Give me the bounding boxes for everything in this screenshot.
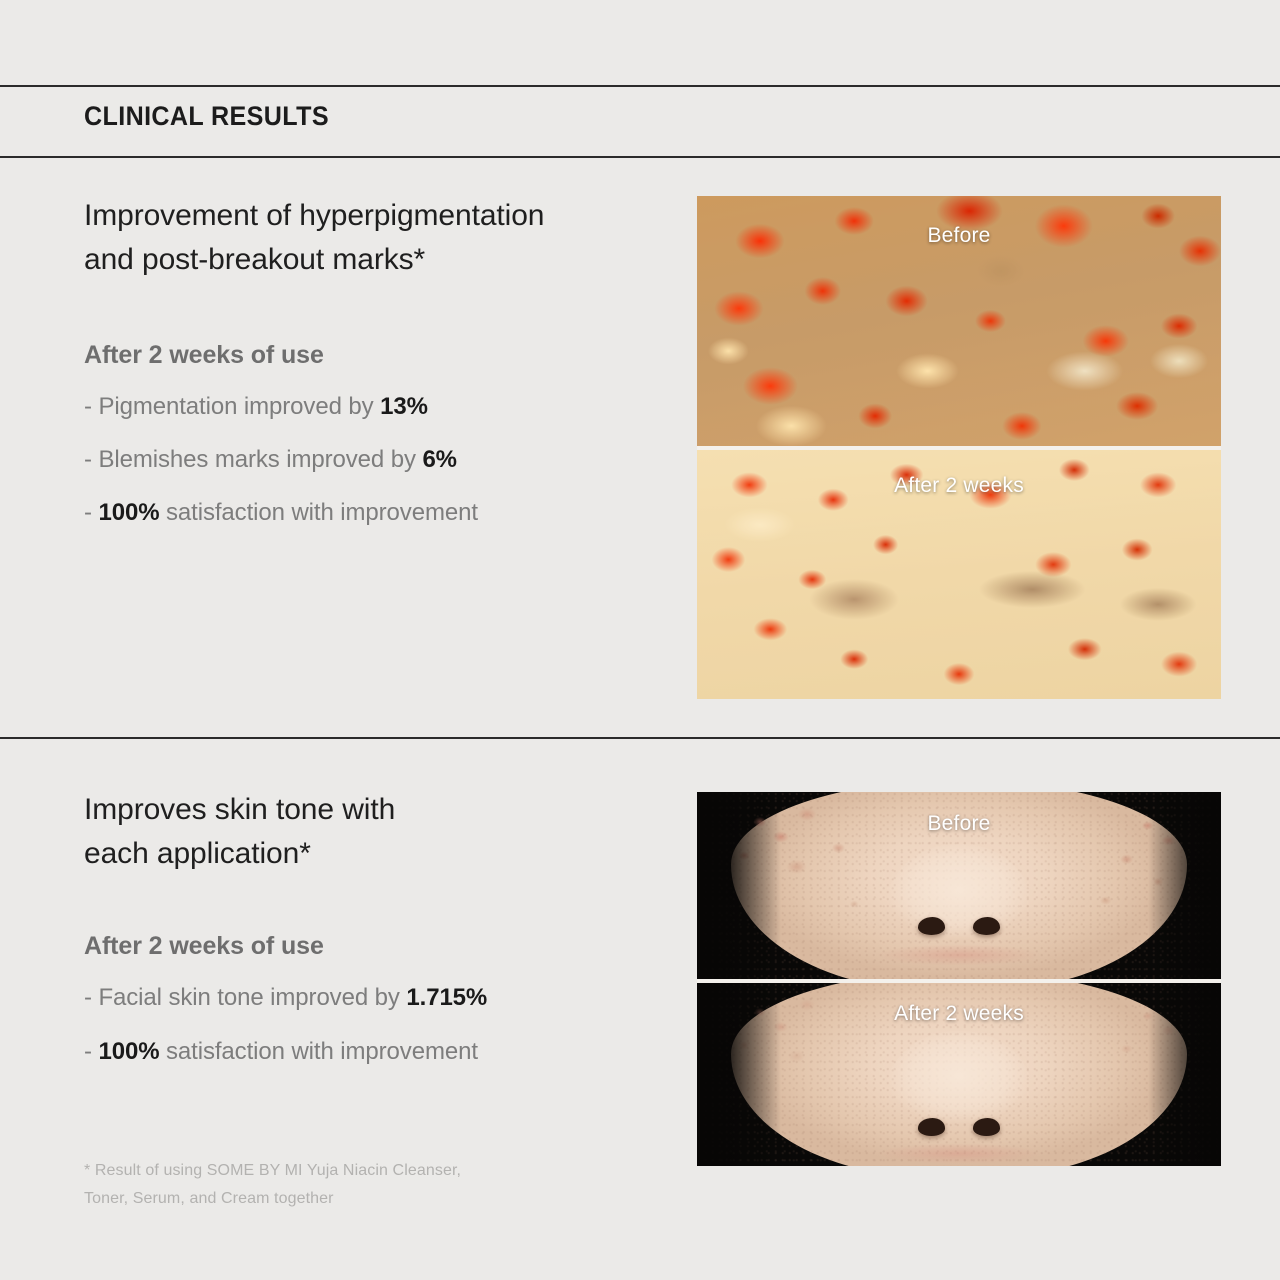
section-2-text-block: Improves skin tone with each application… bbox=[84, 788, 487, 1064]
upper-lip-shadow bbox=[844, 945, 1075, 969]
bullet-value: 13% bbox=[380, 393, 428, 420]
bullet-prefix: - bbox=[84, 499, 98, 526]
footnote-line-1: * Result of using SOME BY MI Yuja Niacin… bbox=[84, 1157, 461, 1185]
bullet-suffix: satisfaction with improvement bbox=[159, 1038, 477, 1065]
section-2-headline: Improves skin tone with each application… bbox=[84, 788, 487, 876]
bullet-prefix: - Facial skin tone improved by bbox=[84, 984, 406, 1011]
nostril-right bbox=[973, 917, 1000, 935]
upper-lip-shadow bbox=[844, 1144, 1075, 1166]
page-title: CLINICAL RESULTS bbox=[84, 103, 329, 130]
bullet-prefix: - bbox=[84, 1038, 98, 1065]
list-item: - 100% satisfaction with improvement bbox=[84, 472, 544, 525]
section-1-headline-line-1: Improvement of hyperpigmentation bbox=[84, 199, 544, 232]
pigmentation-before-after-photos: Before After 2 weeks bbox=[697, 196, 1221, 699]
bullet-suffix: satisfaction with improvement bbox=[159, 499, 477, 526]
footnote-line-2: Toner, Serum, and Cream together bbox=[84, 1185, 461, 1213]
divider-under-title bbox=[0, 156, 1280, 158]
bullet-value: 100% bbox=[98, 1038, 159, 1065]
pigmentation-after-photo: After 2 weeks bbox=[697, 446, 1221, 699]
list-item: - Facial skin tone improved by 1.715% bbox=[84, 959, 487, 1010]
divider-between-sections bbox=[0, 737, 1280, 739]
pigmentation-after-image bbox=[697, 450, 1221, 699]
bullet-prefix: - Pigmentation improved by bbox=[84, 393, 380, 420]
bullet-value: 100% bbox=[98, 499, 159, 526]
face-left-shadow bbox=[697, 983, 781, 1166]
bullet-prefix: - Blemishes marks improved by bbox=[84, 446, 422, 473]
pigmentation-before-image bbox=[697, 196, 1221, 446]
nostril-right bbox=[973, 1118, 1000, 1135]
section-2-headline-line-2: each application* bbox=[84, 837, 311, 870]
face-after-image bbox=[697, 983, 1221, 1166]
section-2-headline-line-1: Improves skin tone with bbox=[84, 793, 395, 826]
section-1-bullet-list: - Pigmentation improved by 13% - Blemish… bbox=[84, 368, 544, 525]
face-right-shadow bbox=[1148, 983, 1221, 1166]
face-before-image bbox=[697, 792, 1221, 979]
clinical-results-page: CLINICAL RESULTS Improvement of hyperpig… bbox=[0, 0, 1280, 1280]
skin-tone-before-photo: Before bbox=[697, 792, 1221, 979]
bullet-value: 6% bbox=[422, 446, 457, 473]
list-item: - Blemishes marks improved by 6% bbox=[84, 419, 544, 472]
section-2-subhead: After 2 weeks of use bbox=[84, 876, 487, 959]
section-2-bullet-list: - Facial skin tone improved by 1.715% - … bbox=[84, 959, 487, 1064]
nostril-left bbox=[918, 917, 945, 935]
bullet-value: 1.715% bbox=[406, 984, 487, 1011]
pigmentation-before-photo: Before bbox=[697, 196, 1221, 446]
face-left-shadow bbox=[697, 792, 781, 979]
skin-tone-before-after-photos: Before After 2 weeks bbox=[697, 792, 1221, 1166]
list-item: - 100% satisfaction with improvement bbox=[84, 1010, 487, 1064]
section-1-headline-line-2: and post-breakout marks* bbox=[84, 243, 425, 276]
divider-top bbox=[0, 85, 1280, 87]
section-1-text-block: Improvement of hyperpigmentation and pos… bbox=[84, 194, 544, 525]
section-1-subhead: After 2 weeks of use bbox=[84, 282, 544, 368]
list-item: - Pigmentation improved by 13% bbox=[84, 368, 544, 419]
skin-tone-after-photo: After 2 weeks bbox=[697, 979, 1221, 1166]
section-1-headline: Improvement of hyperpigmentation and pos… bbox=[84, 194, 544, 282]
footnote: * Result of using SOME BY MI Yuja Niacin… bbox=[84, 1157, 461, 1213]
face-right-shadow bbox=[1148, 792, 1221, 979]
nostril-left bbox=[918, 1118, 945, 1135]
